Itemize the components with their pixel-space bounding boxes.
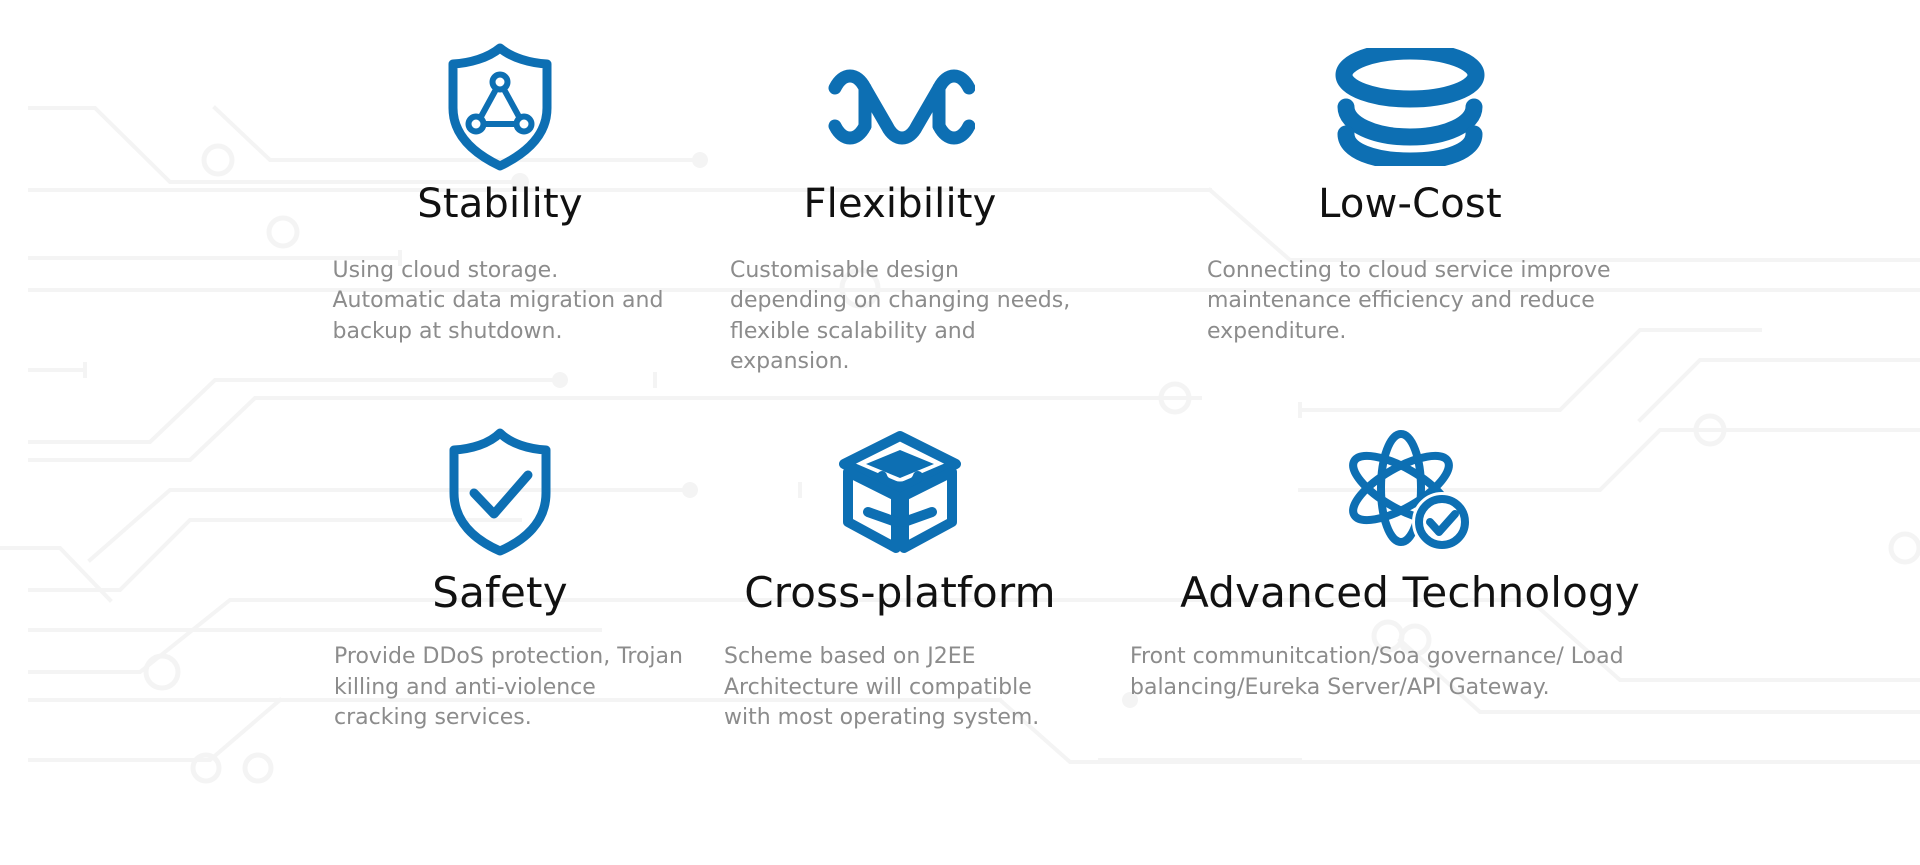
- feature-title: Advanced Technology: [1180, 570, 1640, 616]
- feature-title: Cross-platform: [744, 570, 1056, 616]
- feature-title: Safety: [432, 570, 568, 616]
- shield-check-icon: [444, 422, 556, 562]
- feature-description: Front communitcation/Soa governance/ Loa…: [1130, 642, 1690, 703]
- feature-card-flexibility: Flexibility Customisable design dependin…: [700, 42, 1100, 422]
- feature-title: Low-Cost: [1318, 182, 1502, 226]
- feature-card-low-cost: Low-Cost Connecting to cloud service imp…: [1100, 42, 1720, 422]
- interlocking-waves-icon: [825, 42, 975, 172]
- feature-card-advanced-technology: Advanced Technology Front communitcation…: [1100, 422, 1720, 802]
- shield-network-icon: [442, 42, 558, 172]
- feature-card-cross-platform: Cross-platform Scheme based on J2EE Arch…: [700, 422, 1100, 802]
- feature-description: Scheme based on J2EE Architecture will c…: [724, 642, 1084, 733]
- feature-card-safety: Safety Provide DDoS protection, Trojan k…: [300, 422, 700, 802]
- feature-description: Provide DDoS protection, Trojan killing …: [334, 642, 684, 733]
- feature-description: Customisable design depending on changin…: [730, 256, 1080, 377]
- atom-check-icon: [1339, 422, 1481, 562]
- feature-card-stability: Stability Using cloud storage. Automatic…: [300, 42, 700, 422]
- isometric-cube-icon: [834, 422, 966, 562]
- feature-title: Flexibility: [803, 182, 996, 226]
- feature-title: Stability: [417, 182, 582, 226]
- database-stack-icon: [1335, 42, 1485, 172]
- feature-description: Using cloud storage. Automatic data migr…: [333, 256, 678, 347]
- feature-description: Connecting to cloud service improve main…: [1207, 256, 1627, 347]
- feature-grid: Stability Using cloud storage. Automatic…: [0, 0, 1920, 865]
